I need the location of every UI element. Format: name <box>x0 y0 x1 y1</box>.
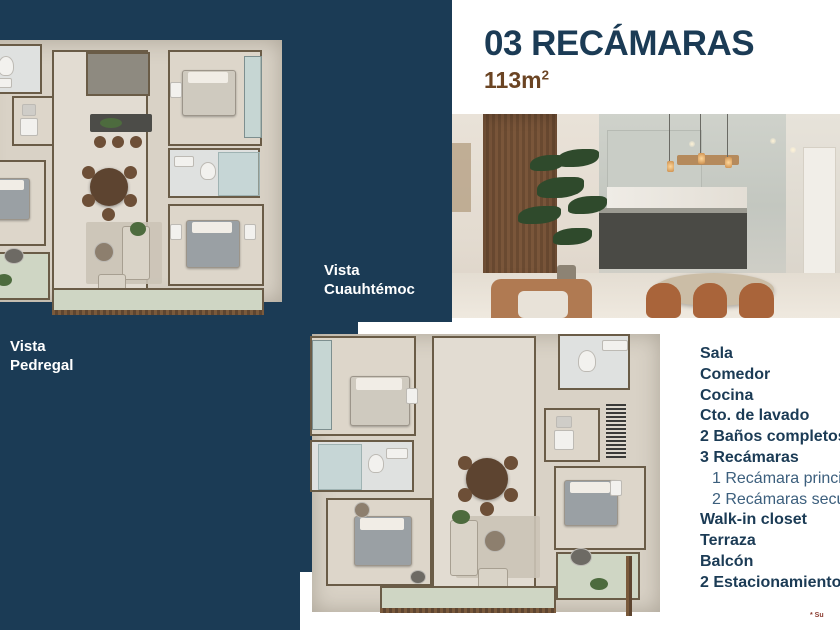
photo-door <box>803 147 836 275</box>
view-label-cuauhtemoc: Vista Cuauhtémoc <box>324 262 415 300</box>
feature-item: Walk-in closet <box>700 510 840 531</box>
area-exponent: 2 <box>542 67 549 82</box>
area-number: 113m <box>484 67 542 93</box>
photo-pendant-bulb <box>667 161 674 172</box>
photo-pendant-bulb <box>698 153 705 164</box>
feature-item: Balcón <box>700 552 840 573</box>
photo-dining-chair <box>739 283 774 318</box>
interior-photo <box>452 114 840 318</box>
photo-pendant-cord <box>727 114 728 159</box>
feature-item: 3 Recámaras <box>700 448 840 469</box>
footnote: * Su <box>810 612 824 619</box>
photo-cushion <box>518 291 568 318</box>
title-block: 03 RECÁMARAS 113m2 <box>484 26 834 92</box>
photo-wall-art <box>452 143 471 212</box>
feature-item: Sala <box>700 344 840 365</box>
feature-item: Cocina <box>700 386 840 407</box>
photo-pendant-cord <box>669 114 670 163</box>
view-label-pedregal: Vista Pedregal <box>10 338 73 376</box>
page-title: 03 RECÁMARAS <box>484 26 834 63</box>
area-value: 113m2 <box>484 69 834 92</box>
photo-dining-chair <box>693 283 728 318</box>
feature-item: Terraza <box>700 531 840 552</box>
photo-downlight <box>689 141 695 147</box>
feature-item: Cto. de lavado <box>700 406 840 427</box>
photo-pendant-bulb <box>725 157 732 168</box>
photo-slat-panel <box>483 114 557 285</box>
photo-dining-chair <box>646 283 681 318</box>
floorplan-bottom-render <box>306 330 672 626</box>
floorplan-top-render <box>0 26 302 318</box>
feature-item: 2 Baños completos <box>700 427 840 448</box>
photo-kitchen-island <box>599 208 746 269</box>
features-list: SalaComedorCocinaCto. de lavado2 Baños c… <box>700 344 840 594</box>
feature-item: Comedor <box>700 365 840 386</box>
feature-subitem: 1 Recámara principal <box>700 469 840 490</box>
feature-item: 2 Estacionamientos <box>700 573 840 594</box>
photo-pendant-cord <box>700 114 701 155</box>
photo-downlight <box>790 147 796 153</box>
photo-backsplash <box>607 187 747 207</box>
brochure-page: 03 RECÁMARAS 113m2 <box>0 0 840 630</box>
feature-subitem: 2 Recámaras secundarias <box>700 490 840 511</box>
